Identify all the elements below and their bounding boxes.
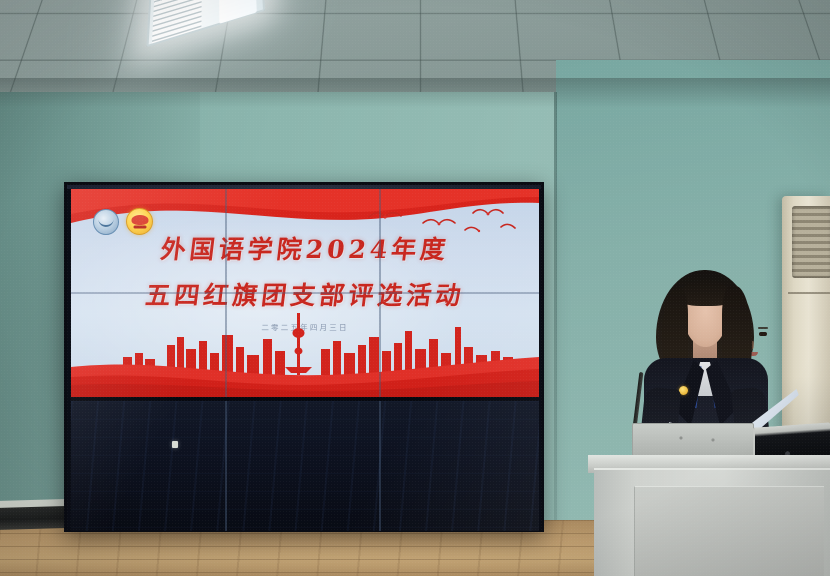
banner-title-line-2: 五四红旗团支部评选活动 <box>71 279 539 313</box>
lectern-front-panel <box>634 486 824 576</box>
video-wall-off-texture <box>71 401 539 531</box>
screw <box>711 438 715 442</box>
banner-logos <box>93 208 153 235</box>
lectern <box>594 468 830 576</box>
wall-corner <box>554 92 557 532</box>
video-wall-panel-seam <box>71 292 539 294</box>
eye <box>759 332 767 336</box>
air-conditioner-vent-louvers <box>792 206 830 278</box>
video-wall-lower-row <box>71 401 539 531</box>
photo-scene: 外国语学院2024年度 五四红旗团支部评选活动 二零二五年四月三日 <box>0 0 830 576</box>
air-conditioner-panel-seam <box>788 292 830 294</box>
red-city-skyline-decoration <box>71 311 539 397</box>
led-video-wall[interactable]: 外国语学院2024年度 五四红旗团支部评选活动 二零二五年四月三日 <box>64 182 544 532</box>
university-emblem-icon <box>93 209 119 235</box>
communist-youth-league-emblem-icon <box>126 208 153 235</box>
video-wall-panel-seam <box>225 401 227 531</box>
ceiling-wall-junction <box>0 78 830 108</box>
video-wall-panel-seam <box>379 401 381 531</box>
screw <box>679 436 683 440</box>
banner-title-line-1: 外国语学院2024年度 <box>71 233 539 267</box>
video-wall-indicator-dot <box>172 441 178 448</box>
eyebrow <box>758 327 768 329</box>
video-wall-upper-row: 外国语学院2024年度 五四红旗团支部评选活动 二零二五年四月三日 <box>71 189 539 397</box>
